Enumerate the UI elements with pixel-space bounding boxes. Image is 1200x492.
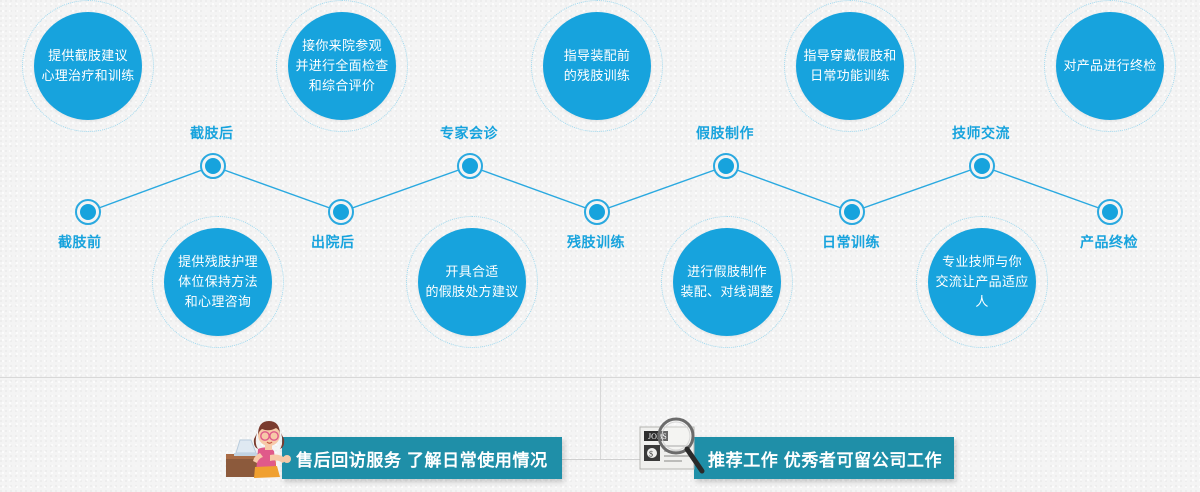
bubble-top-4-label: 指导穿戴假肢和 日常功能训练 <box>799 46 900 86</box>
flow-node-label-9: 产品终检 <box>1080 232 1138 252</box>
bubble-top-5-label: 对产品进行终检 <box>1059 56 1160 76</box>
section-divider-vertical <box>600 377 601 460</box>
bubble-bottom-4[interactable]: 专业技师与你 交流让产品适应人 <box>916 216 1048 348</box>
bubble-bottom-1-disc: 提供残肢护理 体位保持方法 和心理咨询 <box>164 228 272 336</box>
flow-node-label-6: 假肢制作 <box>696 123 754 143</box>
magnifier-over-jobs-newspaper-icon: JOBS $ <box>636 413 708 479</box>
after-sales-banner-label: 售后回访服务 了解日常使用情况 <box>296 446 548 471</box>
flow-node-label-5: 残肢训练 <box>567 232 625 252</box>
bubble-bottom-3-label: 进行假肢制作 装配、对线调整 <box>676 262 777 302</box>
bubble-bottom-3-disc: 进行假肢制作 装配、对线调整 <box>673 228 781 336</box>
bubble-top-3[interactable]: 指导装配前 的残肢训练 <box>531 0 663 132</box>
flow-node-3[interactable] <box>328 199 354 225</box>
flow-node-label-3: 出院后 <box>311 232 355 252</box>
bubble-top-3-disc: 指导装配前 的残肢训练 <box>543 12 651 120</box>
flow-node-2[interactable] <box>200 153 226 179</box>
bubble-bottom-2-label: 开具合适 的假肢处方建议 <box>421 262 522 302</box>
prosthetics-service-flow-infographic: 提供截肢建议 心理治疗和训练 接你来院参观 并进行全面检查 和综合评价 指导装配… <box>0 0 1200 492</box>
bubble-top-2[interactable]: 接你来院参观 并进行全面检查 和综合评价 <box>276 0 408 132</box>
bubble-bottom-1-label: 提供残肢护理 体位保持方法 和心理咨询 <box>174 252 262 312</box>
flow-node-label-1: 截肢前 <box>58 232 102 252</box>
bubble-top-4-disc: 指导穿戴假肢和 日常功能训练 <box>796 12 904 120</box>
bubble-bottom-2-disc: 开具合适 的假肢处方建议 <box>418 228 526 336</box>
flow-node-1[interactable] <box>75 199 101 225</box>
bubble-top-3-label: 指导装配前 的残肢训练 <box>560 46 635 86</box>
flow-node-label-7: 日常训练 <box>822 232 880 252</box>
flow-node-5[interactable] <box>584 199 610 225</box>
bubble-bottom-4-disc: 专业技师与你 交流让产品适应人 <box>928 228 1036 336</box>
bubble-bottom-2[interactable]: 开具合适 的假肢处方建议 <box>406 216 538 348</box>
job-referral-banner-label: 推荐工作 优秀者可留公司工作 <box>708 446 942 471</box>
bubble-top-5-disc: 对产品进行终检 <box>1056 12 1164 120</box>
bubble-top-5[interactable]: 对产品进行终检 <box>1044 0 1176 132</box>
bubble-top-2-label: 接你来院参观 并进行全面检查 和综合评价 <box>291 36 392 96</box>
flow-node-9[interactable] <box>1097 199 1123 225</box>
flow-node-6[interactable] <box>713 153 739 179</box>
bubble-bottom-4-label: 专业技师与你 交流让产品适应人 <box>928 252 1036 312</box>
job-referral-banner[interactable]: JOBS $ 推荐工作 优秀者可留公司工作 <box>694 437 954 479</box>
flow-node-label-8: 技师交流 <box>952 123 1010 143</box>
bubble-top-1[interactable]: 提供截肢建议 心理治疗和训练 <box>22 0 154 132</box>
after-sales-banner[interactable]: 售后回访服务 了解日常使用情况 <box>282 437 562 479</box>
bubble-top-1-disc: 提供截肢建议 心理治疗和训练 <box>34 12 142 120</box>
woman-at-desk-with-laptop-icon <box>224 413 296 479</box>
flow-node-8[interactable] <box>969 153 995 179</box>
flow-node-4[interactable] <box>457 153 483 179</box>
bubble-top-1-label: 提供截肢建议 心理治疗和训练 <box>37 46 138 86</box>
bubble-top-4[interactable]: 指导穿戴假肢和 日常功能训练 <box>784 0 916 132</box>
flow-node-7[interactable] <box>839 199 865 225</box>
banner-connector-left <box>562 459 600 460</box>
bubble-top-2-disc: 接你来院参观 并进行全面检查 和综合评价 <box>288 12 396 120</box>
flow-node-label-4: 专家会诊 <box>440 123 498 143</box>
flow-node-label-2: 截肢后 <box>190 123 234 143</box>
svg-text:$: $ <box>649 450 653 459</box>
bubble-bottom-1[interactable]: 提供残肢护理 体位保持方法 和心理咨询 <box>152 216 284 348</box>
bubble-bottom-3[interactable]: 进行假肢制作 装配、对线调整 <box>661 216 793 348</box>
